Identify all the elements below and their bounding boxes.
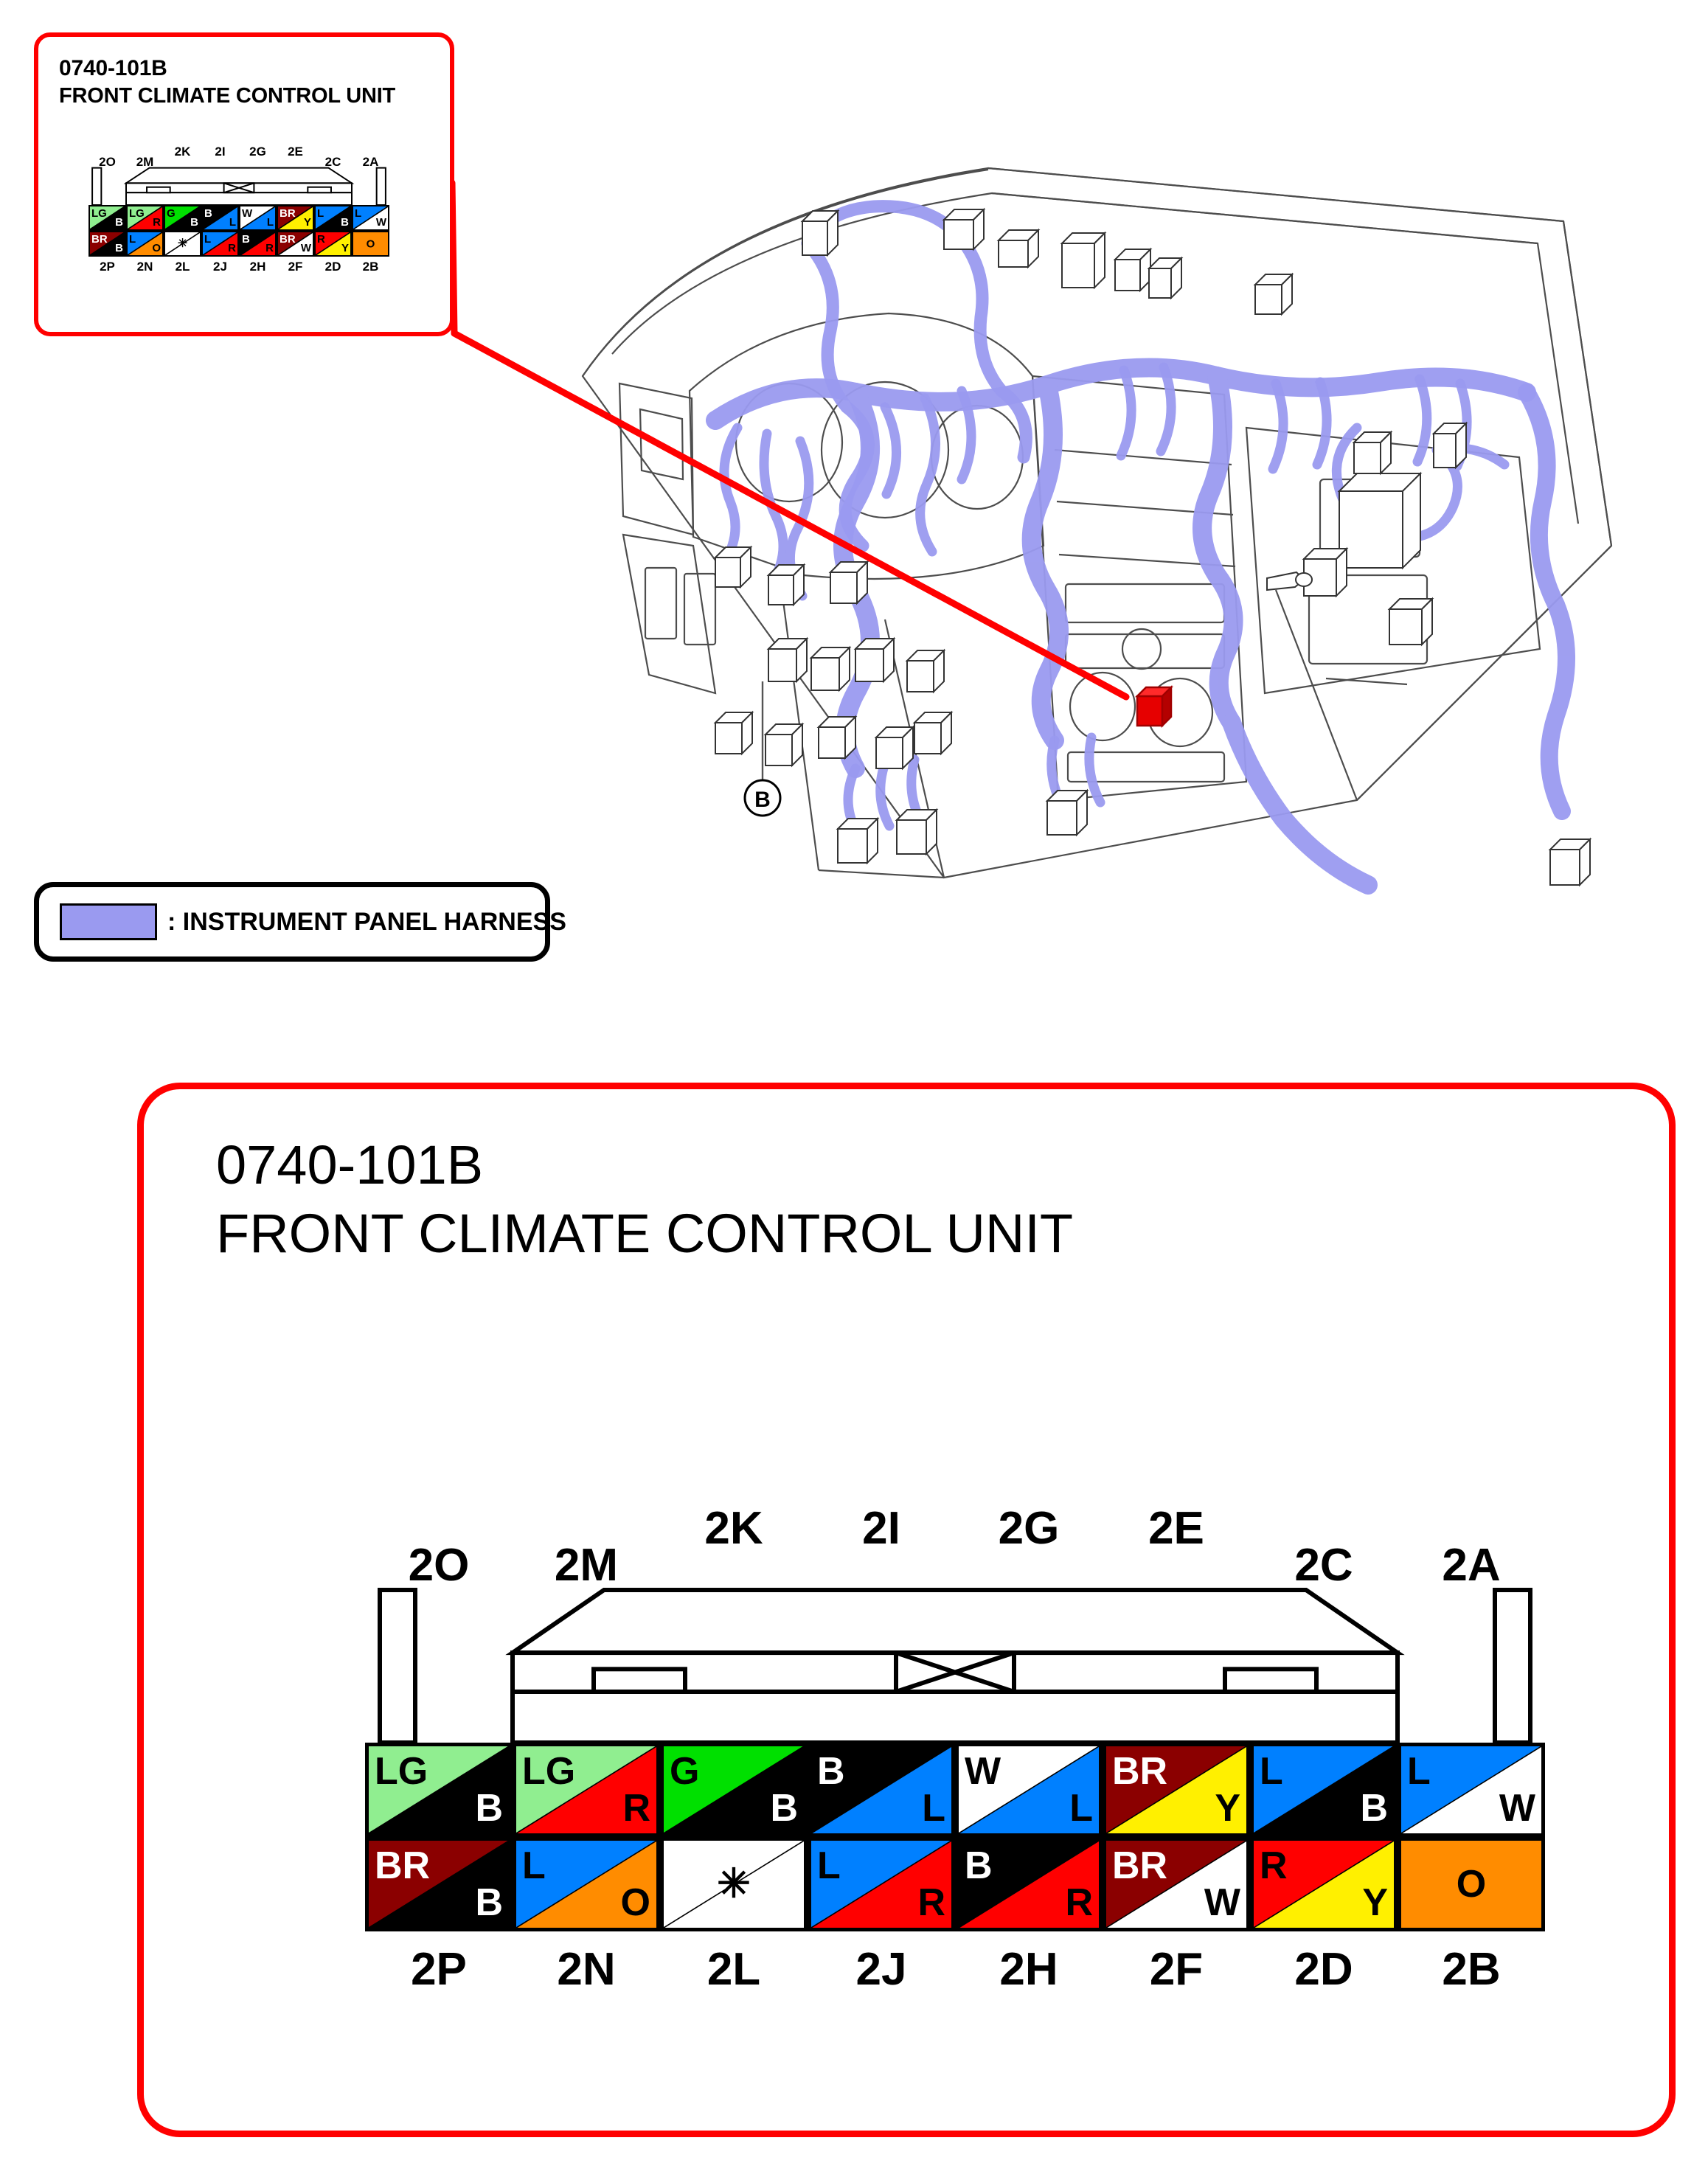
pin-cell-2f: BRW bbox=[277, 231, 314, 257]
pin-cell-2e: BRY bbox=[277, 205, 314, 231]
pin-cell-2h: BR bbox=[955, 1837, 1103, 1931]
connector-bottom-label-2n: 2N bbox=[513, 1943, 660, 1996]
pin-column-2o-2p: LGBBRB bbox=[88, 205, 126, 257]
pin-cell-2g: WL bbox=[239, 205, 277, 231]
pin-cell-2n: LO bbox=[126, 231, 164, 257]
pin-label-secondary: O bbox=[152, 243, 161, 254]
pin-label-secondary: R bbox=[917, 1883, 945, 1922]
connector-top-label-2c: 2C bbox=[1250, 1539, 1398, 1591]
pin-label-center: ✳ bbox=[178, 238, 187, 250]
pin-cell-2d: RY bbox=[314, 231, 352, 257]
connector-bottom-label-2f: 2F bbox=[277, 260, 314, 274]
connector-top-label-2i: 2I bbox=[201, 145, 239, 159]
connector-top-label-2m: 2M bbox=[126, 155, 164, 170]
pin-column-2a-2b: LWO bbox=[1398, 1743, 1545, 1931]
pin-cell-2b: O bbox=[1398, 1837, 1545, 1931]
legend-box: : INSTRUMENT PANEL HARNESS bbox=[34, 882, 550, 962]
connector-bottom-label-2p: 2P bbox=[88, 260, 126, 274]
connector-top-label-2o: 2O bbox=[365, 1539, 513, 1591]
pin-cell-2e: BRY bbox=[1103, 1743, 1250, 1837]
pin-column-2o-2p: LGBBRB bbox=[365, 1743, 513, 1931]
pin-cell-2j: LR bbox=[201, 231, 239, 257]
connector-housing bbox=[88, 164, 389, 205]
pin-label-primary: BR bbox=[1112, 1752, 1167, 1791]
pin-label-secondary: B bbox=[115, 217, 123, 228]
pin-label-primary: BR bbox=[1112, 1847, 1167, 1885]
connector-bottom-label-2j: 2J bbox=[201, 260, 239, 274]
pin-column-2e-2f: BRYBRW bbox=[277, 205, 314, 257]
pin-label-secondary: B bbox=[341, 217, 349, 228]
callout-code: 0740-101B bbox=[59, 55, 395, 83]
pin-cell-2b: O bbox=[352, 231, 389, 257]
pin-label-primary: LG bbox=[129, 208, 145, 219]
pin-cell-2i: BL bbox=[808, 1743, 955, 1837]
pin-cell-2d: RY bbox=[1250, 1837, 1398, 1931]
connector-top-label-2a: 2A bbox=[1398, 1539, 1545, 1591]
pin-label-primary: LG bbox=[375, 1752, 428, 1791]
pin-label-primary: G bbox=[670, 1752, 699, 1791]
pin-label-primary: W bbox=[242, 208, 252, 219]
connector-top-label-2c: 2C bbox=[314, 155, 352, 170]
connector-bottom-label-2b: 2B bbox=[352, 260, 389, 274]
connector-diagram-small: 2O2M2K2I2G2E2C2ALGBBRBLGRLOGB✳BLLRWLBRBR… bbox=[88, 145, 389, 276]
pin-label-secondary: R bbox=[228, 243, 236, 254]
connector-bottom-label-2l: 2L bbox=[660, 1943, 808, 1996]
pin-label-secondary: L bbox=[267, 217, 274, 228]
pin-label-secondary: L bbox=[1069, 1789, 1093, 1827]
pin-label-center: O bbox=[1457, 1865, 1486, 1903]
pin-cell-2c: LB bbox=[314, 205, 352, 231]
pin-label-primary: BR bbox=[280, 234, 296, 245]
callout-box: 0740-101B FRONT CLIMATE CONTROL UNIT 2O2… bbox=[34, 32, 454, 336]
connector-bottom-label-2d: 2D bbox=[1250, 1943, 1398, 1996]
pin-cell-2l: ✳ bbox=[660, 1837, 808, 1931]
pin-cell-2p: BRB bbox=[88, 231, 126, 257]
connector-housing bbox=[365, 1573, 1545, 1743]
connector-top-label-2m: 2M bbox=[513, 1539, 660, 1591]
connector-top-label-2e: 2E bbox=[277, 145, 314, 159]
detail-panel-code: 0740-101B bbox=[216, 1131, 1073, 1199]
pin-label-primary: R bbox=[317, 234, 325, 245]
pin-label-secondary: B bbox=[475, 1789, 503, 1827]
pin-column-2k-2l: GB✳ bbox=[660, 1743, 808, 1931]
pin-label-center: ✳ bbox=[717, 1864, 751, 1905]
pin-cell-2f: BRW bbox=[1103, 1837, 1250, 1931]
pin-grid: LGBBRBLGRLOGB✳BLLRWLBRBRYBRWLBRYLWO bbox=[365, 1743, 1545, 1931]
pin-cell-2i: BL bbox=[201, 205, 239, 231]
pin-column-2m-2n: LGRLO bbox=[513, 1743, 660, 1931]
pin-label-primary: LG bbox=[522, 1752, 575, 1791]
pin-label-secondary: W bbox=[376, 217, 386, 228]
connector-diagram-large: 2O2M2K2I2G2E2C2ALGBBRBLGRLOGB✳BLLRWLBRBR… bbox=[365, 1502, 1545, 2002]
pin-cell-2c: LB bbox=[1250, 1743, 1398, 1837]
connector-bottom-label-2l: 2L bbox=[164, 260, 201, 274]
pin-cell-2p: BRB bbox=[365, 1837, 513, 1931]
pin-label-primary: G bbox=[167, 208, 176, 219]
pin-label-secondary: B bbox=[475, 1883, 503, 1922]
pin-label-secondary: L bbox=[229, 217, 236, 228]
pin-label-secondary: B bbox=[770, 1789, 798, 1827]
pin-cell-2m: LGR bbox=[513, 1743, 660, 1837]
pin-label-secondary: O bbox=[621, 1883, 650, 1922]
connector-bottom-label-2n: 2N bbox=[126, 260, 164, 274]
pin-label-secondary: W bbox=[1499, 1789, 1535, 1827]
pin-label-primary: L bbox=[204, 234, 211, 245]
connector-top-label-2k: 2K bbox=[164, 145, 201, 159]
pin-column-2i-2j: BLLR bbox=[808, 1743, 955, 1931]
connector-bottom-label-2d: 2D bbox=[314, 260, 352, 274]
pin-label-primary: L bbox=[317, 208, 324, 219]
pin-cell-2n: LO bbox=[513, 1837, 660, 1931]
pin-cell-2k: GB bbox=[164, 205, 201, 231]
detail-panel: 0740-101B FRONT CLIMATE CONTROL UNIT 2O2… bbox=[137, 1083, 1676, 2137]
pin-column-2g-2h: WLBR bbox=[955, 1743, 1103, 1931]
connector-top-label-2i: 2I bbox=[808, 1502, 955, 1555]
pin-label-primary: W bbox=[965, 1752, 1001, 1791]
pin-label-primary: L bbox=[522, 1847, 546, 1885]
pin-cell-2j: LR bbox=[808, 1837, 955, 1931]
pin-label-secondary: B bbox=[115, 243, 123, 254]
callout-title: 0740-101B FRONT CLIMATE CONTROL UNIT bbox=[59, 55, 395, 111]
pin-label-primary: B bbox=[817, 1752, 845, 1791]
pin-label-secondary: R bbox=[265, 243, 274, 254]
pin-label-primary: L bbox=[1407, 1752, 1431, 1791]
pin-cell-2g: WL bbox=[955, 1743, 1103, 1837]
pin-label-primary: LG bbox=[91, 208, 107, 219]
connector-bottom-label-2h: 2H bbox=[239, 260, 277, 274]
pin-label-primary: BR bbox=[280, 208, 296, 219]
connector-bottom-label-2h: 2H bbox=[955, 1943, 1103, 1996]
pin-label-primary: L bbox=[817, 1847, 841, 1885]
pin-label-secondary: Y bbox=[341, 243, 349, 254]
pin-grid: LGBBRBLGRLOGB✳BLLRWLBRBRYBRWLBRYLWO bbox=[88, 205, 389, 257]
pin-label-primary: B bbox=[204, 208, 212, 219]
pin-label-primary: L bbox=[1260, 1752, 1283, 1791]
pin-label-secondary: B bbox=[1360, 1789, 1388, 1827]
pin-cell-2l: ✳ bbox=[164, 231, 201, 257]
legend-label: : INSTRUMENT PANEL HARNESS bbox=[167, 908, 566, 937]
pin-label-primary: L bbox=[355, 208, 361, 219]
harness-color-swatch bbox=[60, 903, 157, 940]
detail-panel-name: FRONT CLIMATE CONTROL UNIT bbox=[216, 1199, 1073, 1268]
pin-label-center: O bbox=[367, 238, 375, 249]
connector-top-label-2a: 2A bbox=[352, 155, 389, 170]
pin-column-2c-2d: LBRY bbox=[1250, 1743, 1398, 1931]
connector-bottom-label-2j: 2J bbox=[808, 1943, 955, 1996]
pin-label-secondary: R bbox=[153, 217, 161, 228]
callout-name: FRONT CLIMATE CONTROL UNIT bbox=[59, 83, 395, 110]
pin-column-2e-2f: BRYBRW bbox=[1103, 1743, 1250, 1931]
pin-cell-2a: LW bbox=[352, 205, 389, 231]
connector-top-label-2g: 2G bbox=[955, 1502, 1103, 1555]
pin-column-2i-2j: BLLR bbox=[201, 205, 239, 257]
pin-cell-2a: LW bbox=[1398, 1743, 1545, 1837]
connector-bottom-label-2p: 2P bbox=[365, 1943, 513, 1996]
pin-cell-2m: LGR bbox=[126, 205, 164, 231]
pin-cell-2k: GB bbox=[660, 1743, 808, 1837]
pin-label-primary: BR bbox=[375, 1847, 430, 1885]
pin-column-2m-2n: LGRLO bbox=[126, 205, 164, 257]
pin-cell-2o: LGB bbox=[88, 205, 126, 231]
connector-top-label-2e: 2E bbox=[1103, 1502, 1250, 1555]
connector-top-label-2g: 2G bbox=[239, 145, 277, 159]
pin-cell-2h: BR bbox=[239, 231, 277, 257]
detail-panel-title: 0740-101B FRONT CLIMATE CONTROL UNIT bbox=[216, 1131, 1073, 1268]
connector-bottom-label-2f: 2F bbox=[1103, 1943, 1250, 1996]
pin-label-primary: L bbox=[129, 234, 136, 245]
pin-label-primary: B bbox=[965, 1847, 993, 1885]
pin-label-secondary: Y bbox=[1362, 1883, 1388, 1922]
pin-label-secondary: W bbox=[1204, 1883, 1240, 1922]
pin-label-secondary: B bbox=[190, 217, 198, 228]
connector-top-label-2k: 2K bbox=[660, 1502, 808, 1555]
pin-label-primary: BR bbox=[91, 234, 108, 245]
connector-top-label-2o: 2O bbox=[88, 155, 126, 170]
pin-column-2g-2h: WLBR bbox=[239, 205, 277, 257]
pin-column-2a-2b: LWO bbox=[352, 205, 389, 257]
pin-column-2k-2l: GB✳ bbox=[164, 205, 201, 257]
pin-label-primary: R bbox=[1260, 1847, 1288, 1885]
pin-label-secondary: L bbox=[922, 1789, 945, 1827]
pin-label-secondary: Y bbox=[1215, 1789, 1240, 1827]
pin-label-secondary: Y bbox=[304, 217, 311, 228]
pin-label-secondary: W bbox=[301, 243, 311, 254]
pin-cell-2o: LGB bbox=[365, 1743, 513, 1837]
pin-column-2c-2d: LBRY bbox=[314, 205, 352, 257]
pin-label-primary: B bbox=[242, 234, 250, 245]
connector-bottom-label-2b: 2B bbox=[1398, 1943, 1545, 1996]
pin-label-secondary: R bbox=[1065, 1883, 1093, 1922]
pin-label-secondary: R bbox=[622, 1789, 650, 1827]
